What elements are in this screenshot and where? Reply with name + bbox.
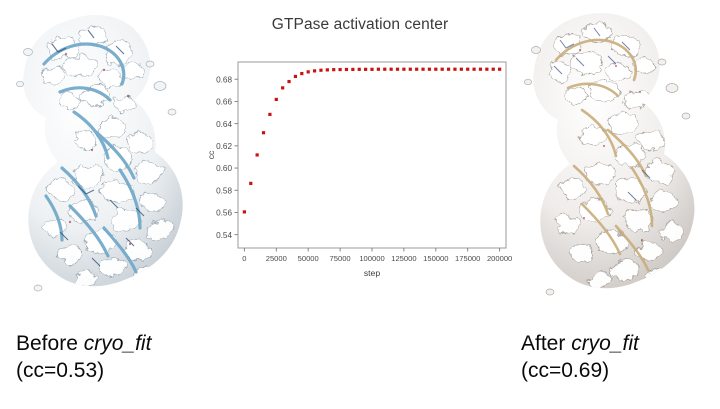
y-tick-label: 0.68 (216, 75, 232, 84)
data-point (281, 86, 284, 89)
data-point (287, 80, 290, 83)
data-point (434, 68, 437, 71)
data-point (300, 72, 303, 75)
data-point (307, 70, 310, 73)
plot-area: 0.540.560.580.600.620.640.660.6802500050… (205, 48, 515, 298)
data-point (485, 68, 488, 71)
data-point (377, 68, 380, 71)
density-surface-right (510, 0, 720, 320)
x-tick-label: 75000 (330, 254, 351, 263)
cc-vs-step-chart: GTPase activation center 0.540.560.580.6… (205, 8, 515, 298)
data-point (319, 69, 322, 72)
data-point (364, 68, 367, 71)
caption-after: After cryo_fit (cc=0.69) (521, 330, 639, 385)
y-axis-label: cc (206, 150, 216, 159)
y-tick-label: 0.54 (216, 231, 232, 240)
data-point (409, 68, 412, 71)
x-tick-label: 50000 (298, 254, 319, 263)
data-point (268, 113, 271, 116)
data-point (390, 68, 393, 71)
structure-before-cryofit (0, 0, 210, 320)
x-tick-label: 0 (242, 254, 246, 263)
data-point (492, 68, 495, 71)
x-tick-label: 175000 (455, 254, 480, 263)
caption-after-cc: (cc=0.69) (521, 357, 639, 384)
y-tick-label: 0.58 (216, 186, 232, 195)
data-point (421, 68, 424, 71)
data-point (332, 68, 335, 71)
slide-canvas: GTPase activation center 0.540.560.580.6… (0, 0, 720, 409)
y-tick-label: 0.60 (216, 164, 232, 173)
data-point (345, 68, 348, 71)
data-point (383, 68, 386, 71)
caption-before-prefix: Before (16, 332, 84, 355)
data-point (294, 75, 297, 78)
data-point (460, 68, 463, 71)
data-point (351, 68, 354, 71)
data-point (453, 68, 456, 71)
data-point (243, 210, 246, 213)
data-point (466, 68, 469, 71)
data-point (256, 153, 259, 156)
density-surface-left (0, 0, 210, 320)
x-tick-label: 150000 (423, 254, 448, 263)
y-tick-label: 0.66 (216, 98, 232, 107)
density-map-render-left (0, 0, 210, 320)
x-axis-label: step (364, 268, 380, 278)
x-tick-label: 125000 (391, 254, 416, 263)
caption-before-cc: (cc=0.53) (16, 357, 151, 384)
caption-before: Before cryo_fit (cc=0.53) (16, 330, 151, 385)
data-point (275, 98, 278, 101)
data-point (396, 68, 399, 71)
y-tick-label: 0.64 (216, 120, 232, 129)
data-point (262, 131, 265, 134)
data-point (415, 68, 418, 71)
x-tick-label: 100000 (359, 254, 384, 263)
data-point (313, 69, 316, 72)
data-point (326, 68, 329, 71)
data-point (338, 68, 341, 71)
density-map-render-right (510, 0, 720, 320)
data-point (428, 68, 431, 71)
x-tick-label: 25000 (266, 254, 287, 263)
data-point (358, 68, 361, 71)
y-tick-label: 0.62 (216, 142, 232, 151)
data-point (498, 68, 501, 71)
caption-after-program: cryo_fit (571, 332, 639, 355)
data-point (472, 68, 475, 71)
data-point (447, 68, 450, 71)
chart-title: GTPase activation center (205, 16, 515, 34)
plot-frame (238, 62, 506, 248)
data-point (249, 182, 252, 185)
y-tick-label: 0.56 (216, 209, 232, 218)
x-tick-label: 200000 (487, 254, 512, 263)
data-point (441, 68, 444, 71)
caption-after-prefix: After (521, 332, 571, 355)
data-point (370, 68, 373, 71)
structure-after-cryofit (510, 0, 720, 320)
scatter-plot-svg: 0.540.560.580.600.620.640.660.6802500050… (205, 48, 515, 298)
caption-before-program: cryo_fit (84, 332, 152, 355)
data-point (479, 68, 482, 71)
data-point (402, 68, 405, 71)
